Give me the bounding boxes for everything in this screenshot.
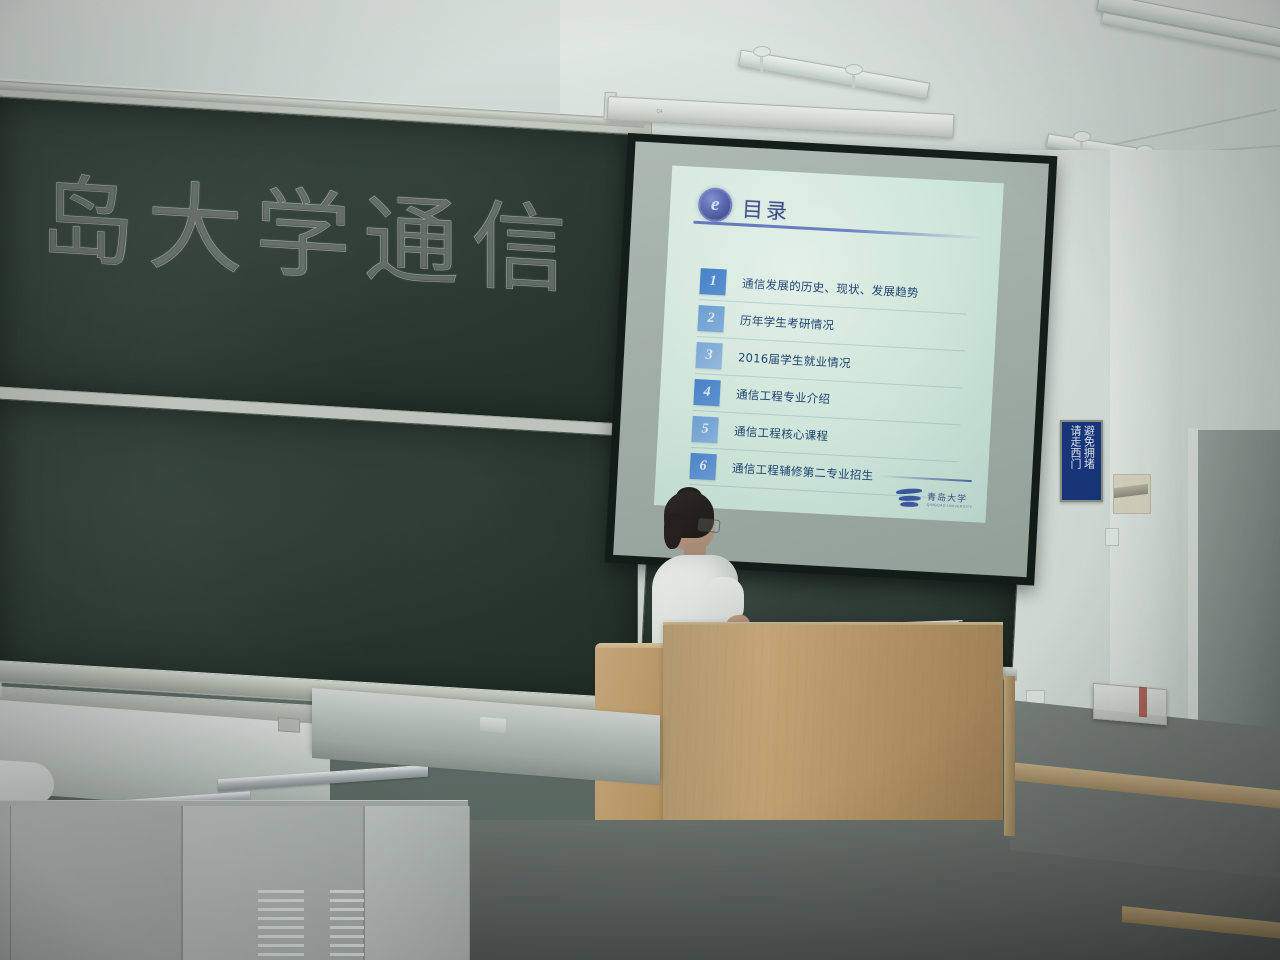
wall-switch[interactable] [1105, 528, 1119, 546]
crate-strap [1139, 687, 1147, 718]
notice-sign: 避免拥堵 请走西门 [1060, 420, 1103, 502]
cabinet-vent [258, 890, 304, 958]
light-ceiling-mount [1073, 131, 1091, 142]
slide-footer-logo: 青岛大学 QINGDAO UNIVERSITY [896, 486, 974, 510]
door-jamb [1188, 428, 1198, 762]
toc-item-label: 通信工程核心课程 [734, 423, 829, 444]
toc-item-number: 5 [691, 416, 718, 443]
cabinet-side-panel [364, 806, 470, 960]
projected-slide: e 目录 1 通信发展的历史、现状、发展趋势 2 历年学生考研情况 3 2016… [654, 165, 1004, 522]
slide-logo-letter: e [711, 195, 720, 214]
toc-item-number: 1 [699, 268, 726, 295]
slide-title: 目录 [741, 193, 791, 226]
notice-sign-line-1: 避免拥堵 [1082, 425, 1094, 469]
chalk-text-line-1: 岛大学通信 [39, 142, 579, 313]
cabinet-hinge [278, 717, 300, 733]
cabinet-door-left[interactable] [10, 806, 182, 960]
toc-item-label: 通信工程辅修第二专业招生 [732, 460, 874, 484]
platform-vertical-trim [1004, 676, 1015, 837]
light-ceiling-mount [753, 46, 771, 57]
presenter-hair-side [664, 513, 682, 549]
slide-title-underline [693, 221, 983, 240]
blackboard-lower-panel: 修专业宣讲会 [0, 398, 638, 706]
university-wave-icon [896, 486, 923, 507]
slide-toc-list: 1 通信发展的历史、现状、发展趋势 2 历年学生考研情况 3 2016届学生就业… [689, 263, 969, 499]
toc-item-label: 历年学生考研情况 [740, 312, 835, 333]
toc-item-label: 通信工程专业介绍 [736, 386, 831, 407]
doorway[interactable] [1195, 430, 1280, 760]
classroom-photo-scene: 避免拥堵 请走西门 岛大学通信 修专业宣讲会 C4 e 目录 [0, 0, 1280, 960]
toc-item-number: 3 [695, 342, 722, 369]
toc-item-number: 4 [693, 379, 720, 406]
floor-crate[interactable] [1093, 683, 1167, 725]
blackboard-assembly: 岛大学通信 修专业宣讲会 [0, 80, 650, 729]
notice-sign-line-2: 请走西门 [1069, 425, 1081, 469]
screen-housing-label: C4 [656, 109, 663, 115]
toc-item-label: 2016届学生就业情况 [738, 349, 852, 371]
toc-item-number: 6 [689, 453, 716, 480]
toc-item-number: 2 [697, 305, 724, 332]
blackboard-upper-panel: 岛大学通信 [0, 96, 638, 428]
glasses-icon [697, 518, 720, 533]
slide-logo-badge: e [697, 187, 733, 223]
shelf-knob[interactable] [480, 717, 506, 733]
toc-item-label: 通信发展的历史、现状、发展趋势 [742, 275, 920, 301]
light-ceiling-mount [845, 64, 863, 75]
